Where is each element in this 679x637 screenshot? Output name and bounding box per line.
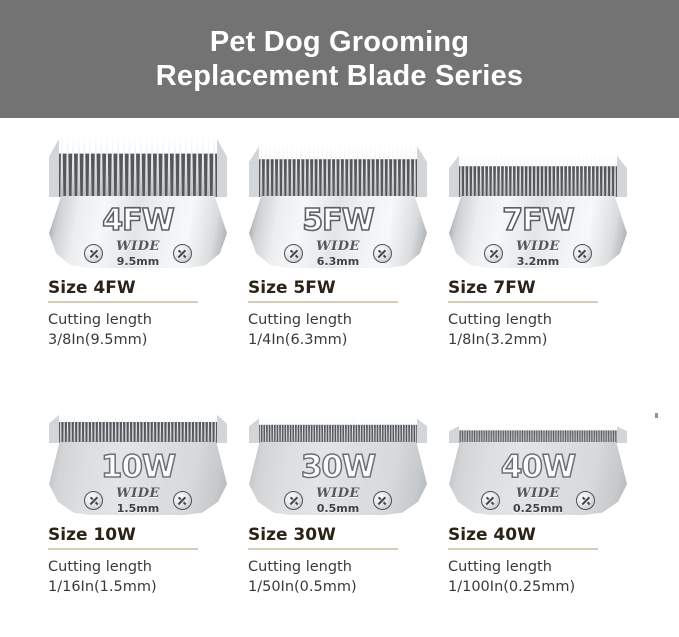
cutting-length-label: Cutting length	[48, 557, 236, 577]
header-title-line-2: Replacement Blade Series	[156, 59, 523, 93]
blade-wide-engraving: WIDE	[516, 240, 560, 254]
product-size-title: Size 30W	[248, 525, 436, 545]
blade-wide-engraving: WIDE	[116, 487, 160, 501]
blade-model-engraving: 30W	[301, 452, 375, 483]
blade-mm-engraving: 0.5mm	[317, 503, 359, 515]
product-card-30w[interactable]: 30W WIDE 0.5mm Size 30W	[240, 370, 436, 620]
product-caption: Size 5FW Cutting length 1/4In(6.3mm)	[240, 268, 436, 350]
blade-image-10w: 10W WIDE 1.5mm	[40, 370, 236, 515]
blade-image-30w: 30W WIDE 0.5mm	[240, 370, 436, 515]
blade-teeth	[449, 153, 627, 197]
cutting-length-label: Cutting length	[248, 557, 436, 577]
product-caption: Size 4FW Cutting length 3/8In(9.5mm)	[40, 268, 236, 350]
cutting-length-value: 1/4In(6.3mm)	[248, 330, 436, 350]
cutting-length-value: 1/16In(1.5mm)	[48, 577, 236, 597]
cutting-length-label: Cutting length	[448, 310, 636, 330]
blade-graphic: 10W WIDE 1.5mm	[49, 413, 227, 515]
blade-body: 30W WIDE 0.5mm	[249, 442, 427, 515]
blade-image-7fw: 7FW WIDE 3.2mm	[440, 118, 636, 268]
screw-icon	[284, 244, 303, 263]
screw-icon	[173, 244, 192, 263]
cutting-length-label: Cutting length	[248, 310, 436, 330]
blade-graphic: 40W WIDE 0.25mm	[449, 425, 627, 515]
blade-model-engraving: 4FW	[102, 206, 173, 236]
title-underline	[248, 301, 398, 303]
screw-icon	[481, 491, 500, 510]
screw-icon	[373, 491, 392, 510]
header-banner: Pet Dog Grooming Replacement Blade Serie…	[0, 0, 679, 118]
blade-mm-engraving: 9.5mm	[117, 256, 159, 268]
title-underline	[48, 548, 198, 550]
cutting-length-value: 1/100In(0.25mm)	[448, 577, 636, 597]
header-title-line-1: Pet Dog Grooming	[210, 25, 469, 59]
blade-body: 7FW WIDE 3.2mm	[449, 196, 627, 268]
screw-icon	[576, 491, 595, 510]
blade-graphic: 4FW WIDE 9.5mm	[49, 135, 227, 268]
cutting-length-value: 3/8In(9.5mm)	[48, 330, 236, 350]
product-caption: Size 40W Cutting length 1/100In(0.25mm)	[440, 515, 636, 597]
title-underline	[248, 548, 398, 550]
cutting-length-label: Cutting length	[448, 557, 636, 577]
image-artifact-speck	[655, 413, 658, 418]
blade-wide-engraving: WIDE	[316, 487, 360, 501]
blade-graphic: 30W WIDE 0.5mm	[249, 417, 427, 515]
blade-image-4fw: 4FW WIDE 9.5mm	[40, 118, 236, 268]
blade-mm-engraving: 3.2mm	[517, 256, 559, 268]
product-size-title: Size 5FW	[248, 278, 436, 298]
product-size-title: Size 10W	[48, 525, 236, 545]
blade-detail-row: WIDE 1.5mm	[49, 487, 227, 515]
blade-teeth	[249, 143, 427, 197]
product-caption: Size 7FW Cutting length 1/8In(3.2mm)	[440, 268, 636, 350]
blade-mm-engraving: 6.3mm	[317, 256, 359, 268]
product-caption: Size 10W Cutting length 1/16In(1.5mm)	[40, 515, 236, 597]
screw-icon	[573, 244, 592, 263]
product-row-bottom: 10W WIDE 1.5mm Size 10W	[0, 370, 679, 620]
blade-wide-engraving: WIDE	[516, 487, 560, 501]
blade-detail-row: WIDE 0.5mm	[249, 487, 427, 515]
blade-model-engraving: 5FW	[302, 206, 373, 236]
product-grid: 4FW WIDE 9.5mm Size 4FW	[0, 118, 679, 620]
product-card-40w[interactable]: 40W WIDE 0.25mm Size 40W	[440, 370, 636, 620]
blade-model-engraving: 40W	[501, 452, 575, 483]
product-size-title: Size 7FW	[448, 278, 636, 298]
blade-detail-row: WIDE 3.2mm	[449, 240, 627, 268]
product-caption: Size 30W Cutting length 1/50In(0.5mm)	[240, 515, 436, 597]
blade-mm-engraving: 0.25mm	[513, 503, 563, 515]
screw-icon	[284, 491, 303, 510]
product-size-title: Size 4FW	[48, 278, 236, 298]
blade-teeth	[49, 135, 227, 197]
blade-model-engraving: 7FW	[502, 206, 573, 236]
blade-image-40w: 40W WIDE 0.25mm	[440, 370, 636, 515]
blade-body: 40W WIDE 0.25mm	[449, 442, 627, 515]
screw-icon	[484, 244, 503, 263]
cutting-length-label: Cutting length	[48, 310, 236, 330]
product-card-10w[interactable]: 10W WIDE 1.5mm Size 10W	[40, 370, 236, 620]
blade-body: 10W WIDE 1.5mm	[49, 442, 227, 515]
screw-icon	[84, 491, 103, 510]
blade-teeth	[49, 413, 227, 443]
screw-icon	[373, 244, 392, 263]
product-card-4fw[interactable]: 4FW WIDE 9.5mm Size 4FW	[40, 118, 236, 370]
product-card-5fw[interactable]: 5FW WIDE 6.3mm Size 5FW	[240, 118, 436, 370]
screw-icon	[84, 244, 103, 263]
blade-teeth	[249, 417, 427, 443]
blade-image-5fw: 5FW WIDE 6.3mm	[240, 118, 436, 268]
blade-graphic: 7FW WIDE 3.2mm	[449, 153, 627, 268]
product-card-7fw[interactable]: 7FW WIDE 3.2mm Size 7FW	[440, 118, 636, 370]
cutting-length-value: 1/8In(3.2mm)	[448, 330, 636, 350]
title-underline	[448, 301, 598, 303]
product-row-top: 4FW WIDE 9.5mm Size 4FW	[0, 118, 679, 370]
screw-icon	[173, 491, 192, 510]
product-size-title: Size 40W	[448, 525, 636, 545]
blade-detail-row: WIDE 9.5mm	[49, 240, 227, 268]
blade-model-engraving: 10W	[101, 452, 175, 483]
blade-detail-row: WIDE 6.3mm	[249, 240, 427, 268]
blade-wide-engraving: WIDE	[116, 240, 160, 254]
blade-wide-engraving: WIDE	[316, 240, 360, 254]
blade-mm-engraving: 1.5mm	[117, 503, 159, 515]
blade-detail-row: WIDE 0.25mm	[449, 487, 627, 515]
title-underline	[448, 548, 598, 550]
blade-body: 4FW WIDE 9.5mm	[49, 196, 227, 268]
cutting-length-value: 1/50In(0.5mm)	[248, 577, 436, 597]
title-underline	[48, 301, 198, 303]
blade-body: 5FW WIDE 6.3mm	[249, 196, 427, 268]
blade-teeth	[449, 425, 627, 443]
blade-graphic: 5FW WIDE 6.3mm	[249, 143, 427, 268]
